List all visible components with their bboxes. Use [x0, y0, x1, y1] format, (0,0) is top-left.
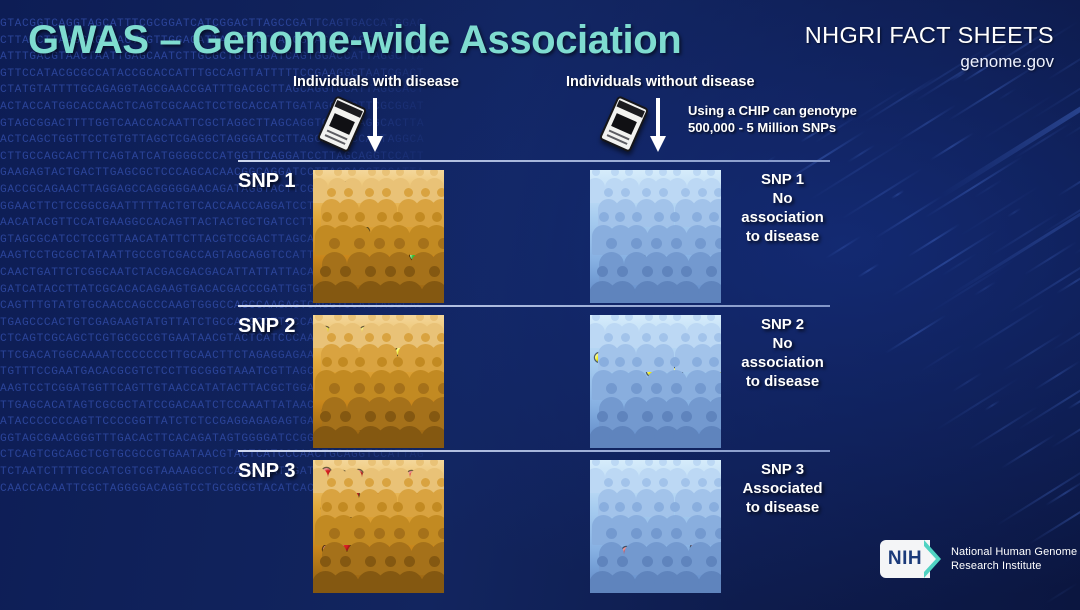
snp-result-line2: No association — [735, 189, 830, 227]
snp-result-line2: No association — [735, 334, 830, 372]
snp-result-line2: Associated — [735, 479, 830, 498]
control-crowd — [590, 170, 721, 303]
chip-note-line2: 500,000 - 5 Million SNPs — [688, 119, 857, 136]
case-crowd — [313, 460, 444, 593]
snp-result-line1: SNP 2 — [735, 315, 830, 334]
nih-org-line1: National Human Genome — [951, 545, 1077, 559]
chip-note: Using a CHIP can genotype 500,000 - 5 Mi… — [688, 102, 857, 136]
row-divider — [238, 450, 830, 452]
case-crowd — [313, 170, 444, 303]
page-title: GWAS – Genome-wide Association — [28, 18, 681, 63]
control-crowd — [590, 315, 721, 448]
nih-mark-text: NIH — [888, 548, 922, 570]
case-crowd — [313, 315, 444, 448]
chip-note-line1: Using a CHIP can genotype — [688, 102, 857, 119]
case-group-panel — [313, 170, 444, 303]
snp-result-label: SNP 3Associatedto disease — [735, 460, 830, 517]
slide-canvas: GTACGGTCAGGTAGCATTTCGCGGATCATCGGACTTAGCC… — [0, 0, 1080, 610]
nih-logo: NIH National Human Genome Research Insti… — [880, 540, 1077, 578]
snp-result-line3: to disease — [735, 372, 830, 391]
brand-block: NHGRI FACT SHEETS genome.gov — [805, 22, 1054, 72]
control-group-panel — [590, 170, 721, 303]
snp-result-line1: SNP 3 — [735, 460, 830, 479]
control-group-panel — [590, 315, 721, 448]
case-column-label: Individuals with disease — [293, 74, 459, 90]
snp-row: SNP 1SNP 1No associationto disease — [0, 160, 1080, 305]
snp-result-label: SNP 1No associationto disease — [735, 170, 830, 246]
snp-label: SNP 2 — [238, 315, 295, 338]
nih-org-name: National Human Genome Research Institute — [951, 545, 1077, 573]
snp-label: SNP 1 — [238, 170, 295, 193]
snp-row: SNP 2SNP 2No associationto disease — [0, 305, 1080, 450]
row-divider — [238, 305, 830, 307]
snp-result-line3: to disease — [735, 498, 830, 517]
control-group-panel — [590, 460, 721, 593]
snp-result-line1: SNP 1 — [735, 170, 830, 189]
brand-title: NHGRI FACT SHEETS — [805, 22, 1054, 49]
case-group-panel — [313, 460, 444, 593]
snp-result-line3: to disease — [735, 227, 830, 246]
control-column-label: Individuals without disease — [566, 74, 755, 90]
snp-label: SNP 3 — [238, 460, 295, 483]
nih-mark-icon: NIH — [880, 540, 942, 578]
control-crowd — [590, 460, 721, 593]
snp-result-label: SNP 2No associationto disease — [735, 315, 830, 391]
case-group-panel — [313, 315, 444, 448]
nih-org-line2: Research Institute — [951, 559, 1077, 573]
row-divider — [238, 160, 830, 162]
brand-url: genome.gov — [805, 52, 1054, 72]
